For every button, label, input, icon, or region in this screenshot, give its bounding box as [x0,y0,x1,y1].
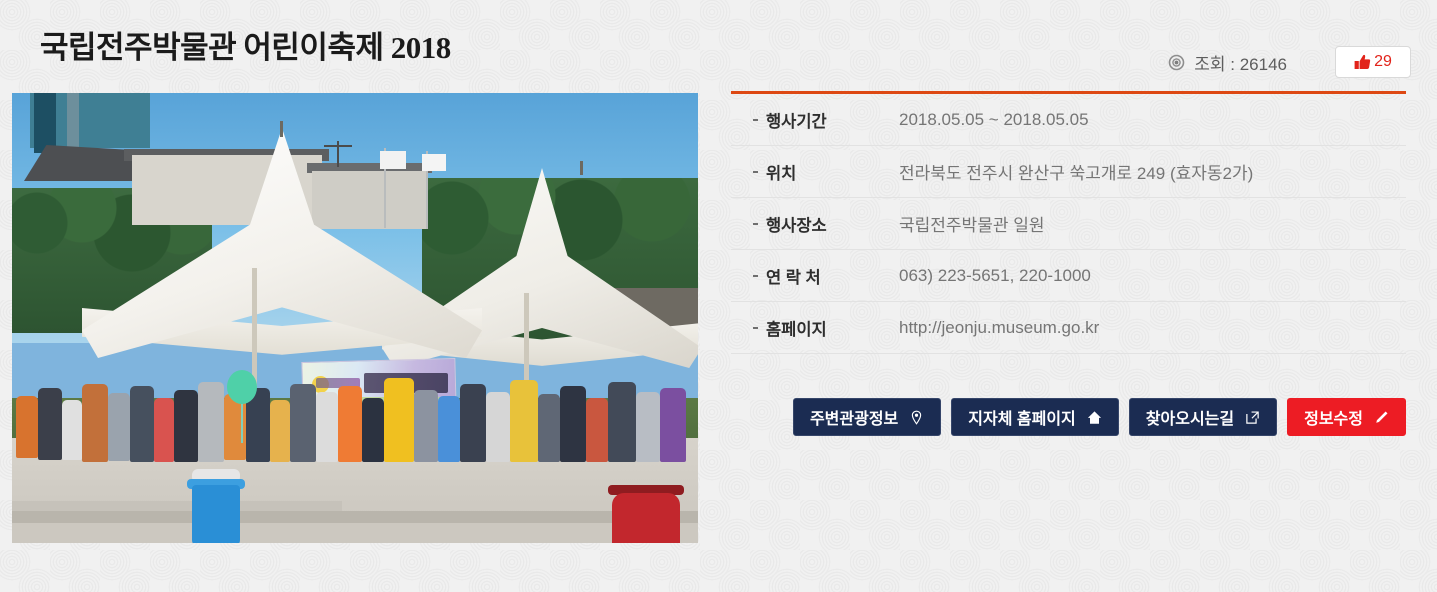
directions-label: 찾아오시는길 [1146,405,1234,429]
info-label-homepage: 홈페이지 [731,316,899,340]
bullet-dash-icon [753,223,758,225]
photo-balloon-string [241,403,243,443]
info-row-period: 행사기간 2018.05.05 ~ 2018.05.05 [731,94,1406,146]
thumbs-up-icon [1354,54,1371,71]
info-label-contact-text: 연 락 처 [766,264,821,288]
photo-tent-1-spike [280,121,283,137]
photo-crowd [12,348,698,463]
bullet-dash-icon [753,171,758,173]
photo-flag-1 [380,151,406,169]
photo-antenna-bar [324,145,352,147]
photo-flag-2 [422,154,446,171]
directions-button[interactable]: 찾아오시는길 [1129,398,1277,436]
info-row-homepage: 홈페이지 http://jeonju.museum.go.kr [731,302,1406,354]
bullet-dash-icon [753,327,758,329]
photo-step-2 [12,523,698,543]
info-label-location-text: 위치 [766,160,796,184]
event-info-panel: 행사기간 2018.05.05 ~ 2018.05.05 위치 전라북도 전주시… [731,91,1406,354]
like-button[interactable]: 29 [1335,46,1411,78]
local-government-homepage-label: 지자체 홈페이지 [968,405,1076,429]
action-button-row: 주변관광정보 지자체 홈페이지 찾아오시는길 [731,398,1406,436]
info-label-period-text: 행사기간 [766,108,827,132]
info-row-venue: 행사장소 국립전주박물관 일원 [731,198,1406,250]
page-header: 국립전주박물관 어린이축제 2018 조회 : 26146 29 [0,0,1437,92]
like-count: 29 [1374,53,1392,71]
edit-info-button[interactable]: 정보수정 [1287,398,1406,436]
info-value-period: 2018.05.05 ~ 2018.05.05 [899,110,1089,130]
photo-balloon [227,370,257,404]
info-label-venue-text: 행사장소 [766,212,827,236]
photo-step-1 [12,511,698,523]
bullet-dash-icon [753,275,758,277]
info-label-homepage-text: 홈페이지 [766,316,827,340]
info-value-homepage[interactable]: http://jeonju.museum.go.kr [899,318,1099,338]
photo-building-left-2 [34,93,56,153]
view-count-label: 조회 : 26146 [1194,50,1287,75]
photo-stroller [612,493,680,543]
photo-tower [67,93,79,155]
photo-trash-bin [192,485,240,543]
bullet-dash-icon [753,119,758,121]
photo-tent-2-spike [580,161,583,175]
map-pin-icon [909,410,924,425]
external-link-icon [1245,410,1260,425]
view-count: 조회 : 26146 [1168,50,1287,75]
nearby-tourism-button[interactable]: 주변관광정보 [793,398,941,436]
event-photo[interactable] [12,93,698,543]
info-label-venue: 행사장소 [731,212,899,236]
info-row-location: 위치 전라북도 전주시 완산구 쑥고개로 249 (효자동2가) [731,146,1406,198]
info-row-contact: 연 락 처 063) 223-5651, 220-1000 [731,250,1406,302]
info-label-contact: 연 락 처 [731,264,899,288]
page-title: 국립전주박물관 어린이축제 2018 [40,22,451,67]
pencil-icon [1374,410,1389,425]
local-government-homepage-button[interactable]: 지자체 홈페이지 [951,398,1119,436]
photo-building-right [312,171,427,229]
home-icon [1087,410,1102,425]
info-label-period: 행사기간 [731,108,899,132]
info-value-venue: 국립전주박물관 일원 [899,211,1044,236]
info-value-location: 전라북도 전주시 완산구 쑥고개로 249 (효자동2가) [899,159,1253,184]
nearby-tourism-label: 주변관광정보 [810,405,898,429]
edit-info-label: 정보수정 [1304,405,1363,429]
info-label-location: 위치 [731,160,899,184]
info-value-contact: 063) 223-5651, 220-1000 [899,266,1091,286]
eye-icon [1168,54,1185,71]
